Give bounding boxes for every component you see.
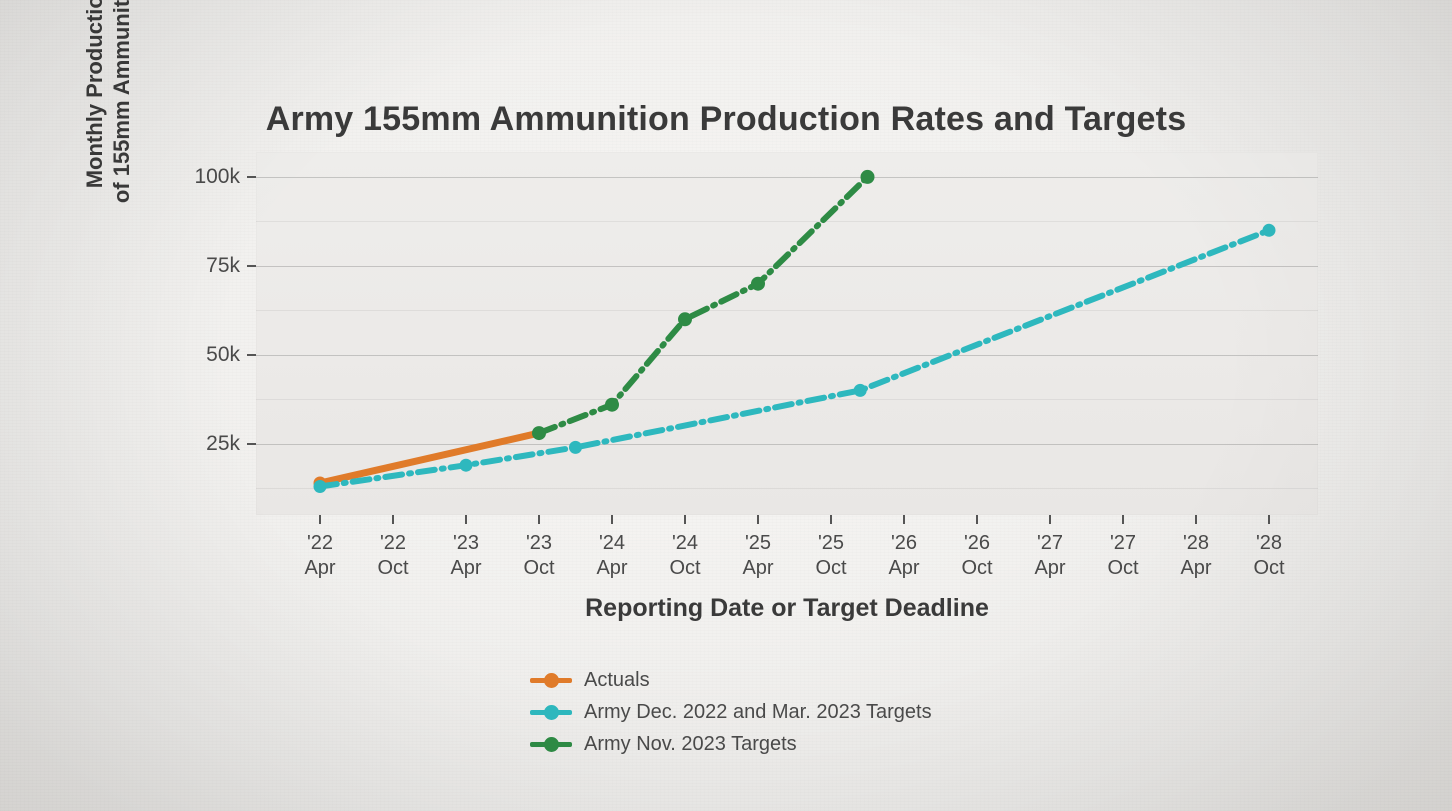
legend-swatch-icon xyxy=(528,701,574,723)
x-tick-mark xyxy=(538,515,540,524)
y-tick-mark xyxy=(247,443,256,445)
data-point[interactable] xyxy=(569,441,582,454)
x-tick-mark xyxy=(319,515,321,524)
data-point[interactable] xyxy=(605,398,619,412)
x-tick-year: '28 xyxy=(1224,531,1314,556)
y-tick-label-50k: 50k xyxy=(170,343,240,367)
x-tick-label-28-Oct: '28Oct xyxy=(1224,531,1314,581)
series-line xyxy=(539,177,868,433)
data-point[interactable] xyxy=(678,312,692,326)
data-point[interactable] xyxy=(861,170,875,184)
x-tick-mark xyxy=(976,515,978,524)
x-tick-mark xyxy=(830,515,832,524)
x-tick-mark xyxy=(392,515,394,524)
data-point[interactable] xyxy=(532,426,546,440)
y-axis-title: Monthly Production of 155mm Ammunition xyxy=(48,0,168,270)
legend-swatch-icon xyxy=(528,733,574,755)
data-point[interactable] xyxy=(751,277,765,291)
x-tick-mark xyxy=(1268,515,1270,524)
x-tick-mark xyxy=(1049,515,1051,524)
legend-label: Army Dec. 2022 and Mar. 2023 Targets xyxy=(584,701,932,724)
chart-page: Army 155mm Ammunition Production Rates a… xyxy=(0,0,1452,811)
x-axis-ticks: '22Apr'22Oct'23Apr'23Oct'24Apr'24Oct'25A… xyxy=(256,515,1318,595)
legend-item-1[interactable]: Actuals xyxy=(528,664,1048,696)
legend-item-3[interactable]: Army Nov. 2023 Targets xyxy=(528,728,1048,760)
y-tick-label-100k: 100k xyxy=(170,165,240,189)
y-tick-mark xyxy=(247,354,256,356)
x-tick-mark xyxy=(1122,515,1124,524)
y-axis-ticks: 25k50k75k100k xyxy=(170,152,256,515)
y-axis-title-line1: Monthly Production xyxy=(81,0,109,188)
legend-label: Actuals xyxy=(584,669,650,692)
y-axis-title-line2: of 155mm Ammunition xyxy=(108,0,136,203)
data-point[interactable] xyxy=(854,384,867,397)
x-tick-mark xyxy=(465,515,467,524)
x-tick-mark xyxy=(757,515,759,524)
chart-legend: ActualsArmy Dec. 2022 and Mar. 2023 Targ… xyxy=(528,664,1048,760)
chart-title: Army 155mm Ammunition Production Rates a… xyxy=(0,100,1452,139)
legend-dot xyxy=(544,673,559,688)
x-tick-mark xyxy=(903,515,905,524)
x-tick-mark xyxy=(611,515,613,524)
y-tick-label-75k: 75k xyxy=(170,254,240,278)
legend-dot xyxy=(544,705,559,720)
legend-item-2[interactable]: Army Dec. 2022 and Mar. 2023 Targets xyxy=(528,696,1048,728)
y-tick-mark xyxy=(247,176,256,178)
legend-label: Army Nov. 2023 Targets xyxy=(584,733,797,756)
legend-dot xyxy=(544,737,559,752)
x-tick-mark xyxy=(684,515,686,524)
x-tick-mark xyxy=(1195,515,1197,524)
series-layer xyxy=(256,152,1318,515)
data-point[interactable] xyxy=(460,459,473,472)
y-tick-mark xyxy=(247,265,256,267)
x-axis-title: Reporting Date or Target Deadline xyxy=(256,594,1318,623)
data-point[interactable] xyxy=(1263,224,1276,237)
data-point[interactable] xyxy=(314,480,327,493)
y-tick-label-25k: 25k xyxy=(170,432,240,456)
x-tick-month: Oct xyxy=(1224,556,1314,581)
legend-swatch-icon xyxy=(528,669,574,691)
